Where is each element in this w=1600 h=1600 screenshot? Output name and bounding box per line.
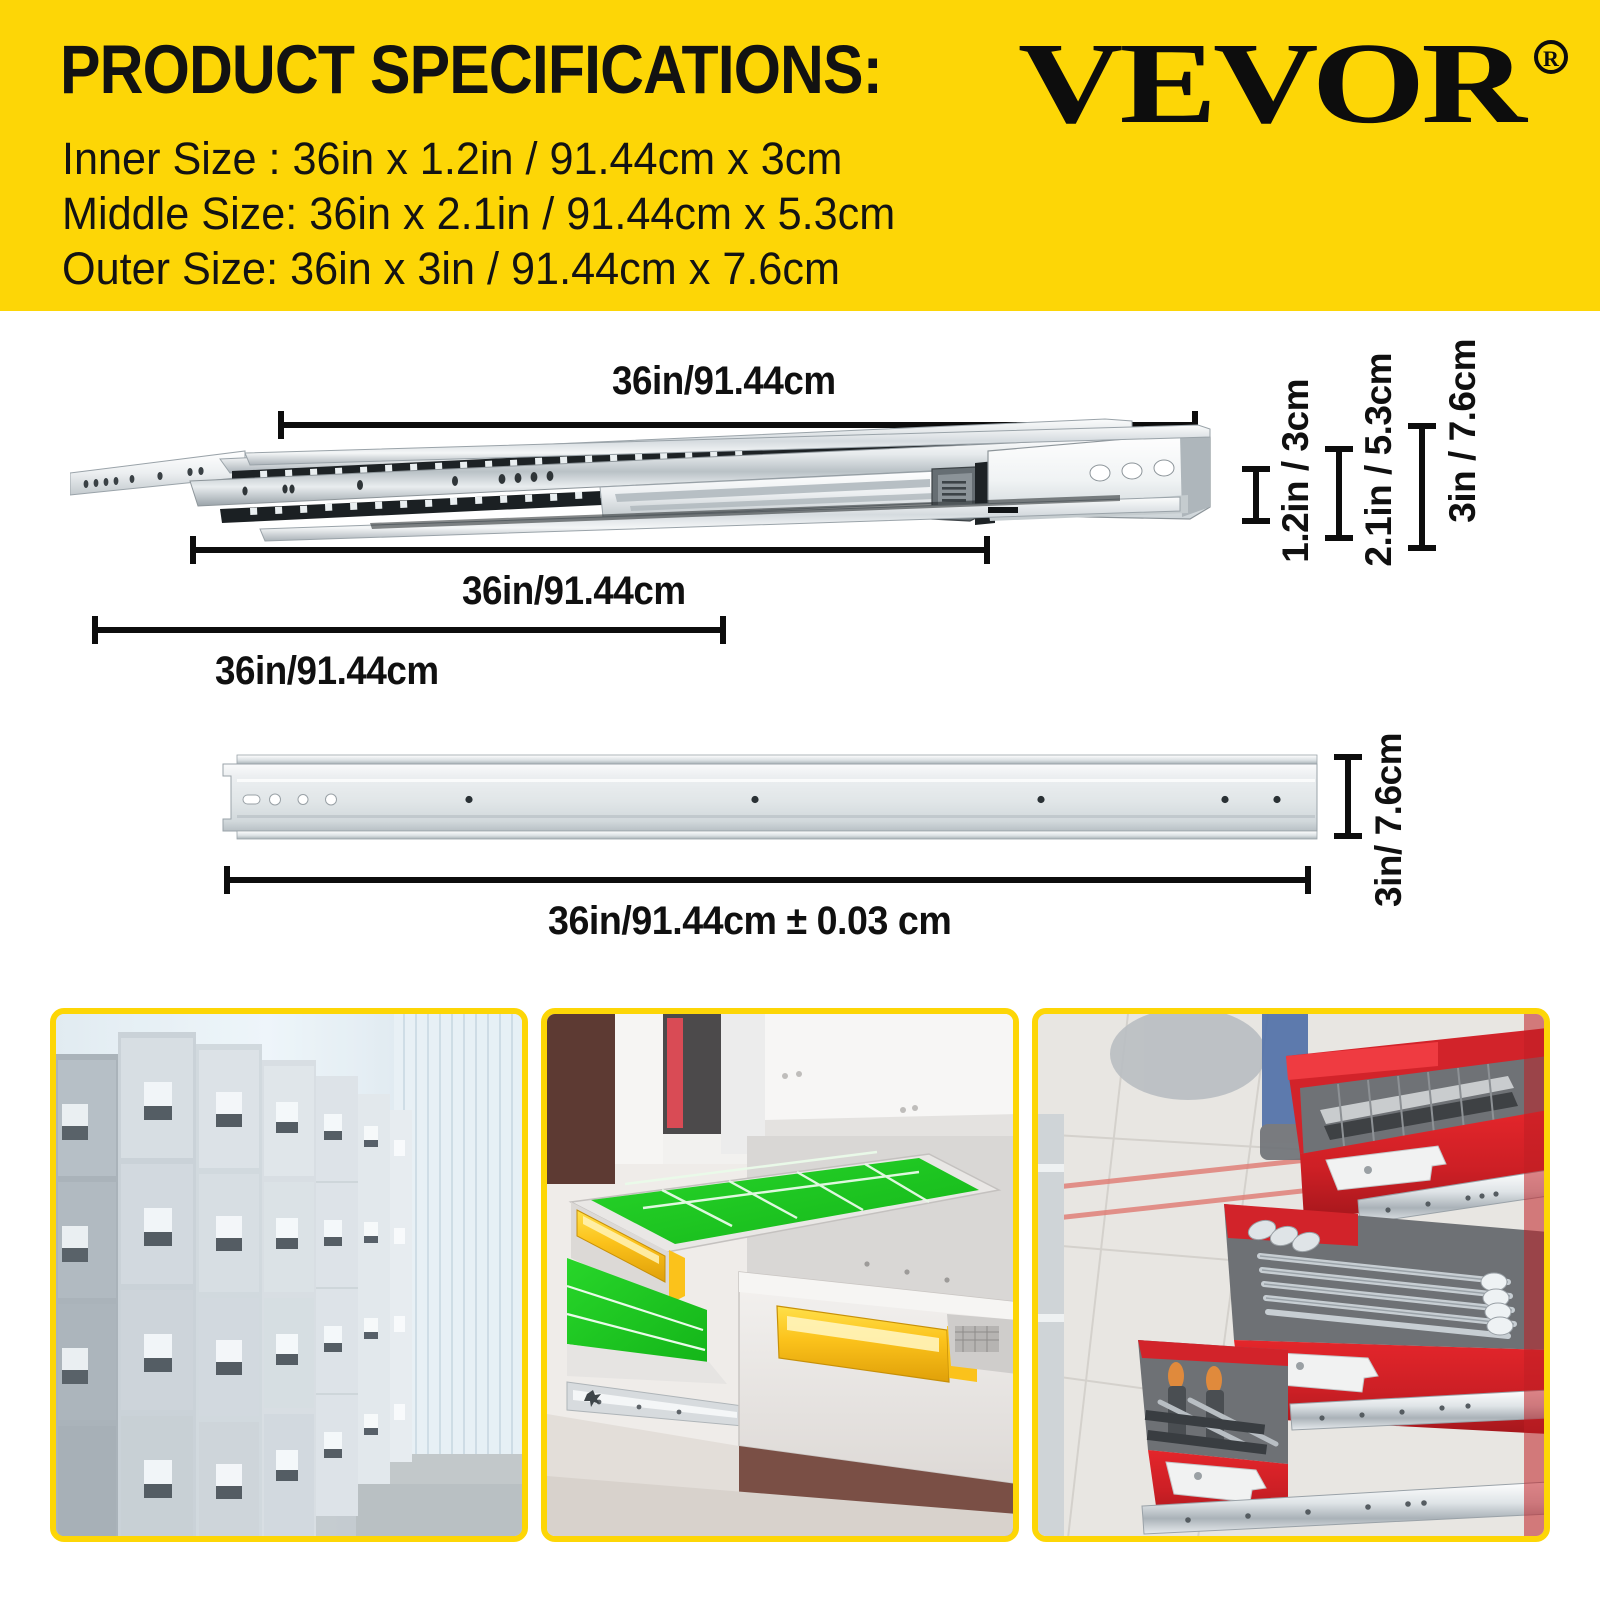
dim-label-inner-height: 1.2in / 3cm (1275, 379, 1317, 563)
dim-label-assembly-middle: 36in/91.44cm (462, 569, 686, 614)
lock-indicator-mark (988, 507, 1018, 513)
application-photo-gallery (0, 1008, 1600, 1542)
spec-header-banner: PRODUCT SPECIFICATIONS: Inner Size : 36i… (0, 0, 1600, 311)
drawer-slide-assembly-illustration (70, 411, 1230, 551)
rail-body (223, 764, 1317, 831)
dim-bar-single-rail-length (224, 866, 1311, 894)
dim-label-assembly-bottom: 36in/91.44cm (215, 649, 439, 694)
single-outer-rail-illustration (215, 751, 1325, 841)
dim-label-single-rail-height: 3in/ 7.6cm (1368, 733, 1410, 907)
dim-bar-assembly-middle (190, 536, 990, 564)
dim-bar-inner-height (1242, 466, 1270, 524)
dimension-diagram-area: 36in/91.44cm (0, 311, 1600, 1001)
dim-label-assembly-top: 36in/91.44cm (612, 359, 836, 404)
dim-bar-assembly-bottom (92, 616, 726, 644)
tool-drawer-top (1286, 1028, 1544, 1224)
registered-trademark-icon: R (1536, 42, 1566, 72)
photo-filing-cabinets (50, 1008, 528, 1542)
rail-top-lip (237, 755, 1317, 764)
spec-line-outer-size: Outer Size: 36in x 3in / 91.44cm x 7.6cm (62, 245, 840, 293)
photo-workshop-drawers (541, 1008, 1019, 1542)
dim-label-single-rail-length: 36in/91.44cm ± 0.03 cm (548, 899, 951, 944)
dim-bar-outer-height (1408, 423, 1436, 551)
dim-bar-single-rail-height (1334, 754, 1362, 839)
rail-bottom-lip (237, 831, 1317, 839)
dim-label-middle-height: 2.1in / 5.3cm (1358, 353, 1400, 567)
vevor-wordmark: VEVOR (1018, 30, 1528, 140)
dim-bar-middle-height (1325, 446, 1353, 541)
page-title: PRODUCT SPECIFICATIONS: (60, 34, 882, 106)
svg-text:R: R (1543, 46, 1560, 71)
spec-line-middle-size: Middle Size: 36in x 2.1in / 91.44cm x 5.… (62, 190, 895, 238)
dim-label-outer-height: 3in / 7.6cm (1442, 339, 1484, 523)
spec-line-inner-size: Inner Size : 36in x 1.2in / 91.44cm x 3c… (62, 135, 842, 183)
photo-red-tool-chest (1032, 1008, 1550, 1542)
vevor-logo: VEVOR R (1018, 30, 1578, 140)
